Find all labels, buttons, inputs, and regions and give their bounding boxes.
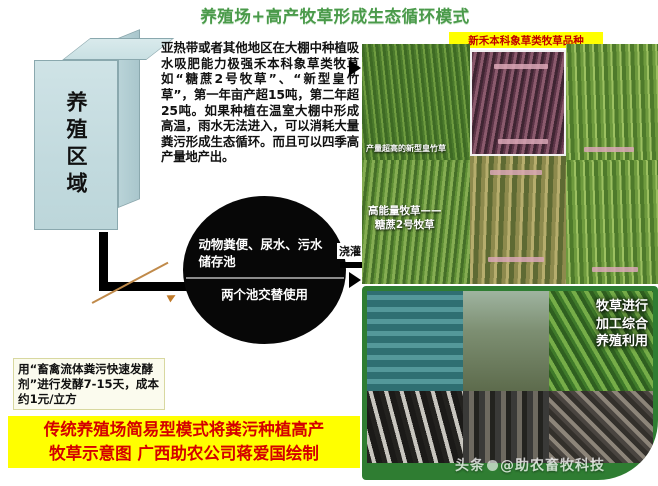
waste-storage-pool: 动物粪便、尿水、污水储存池 两个池交替使用 [183, 196, 346, 344]
photo-caption-mid-line-1: 高能量牧草—— [368, 204, 442, 218]
photo-caption-mid: 高能量牧草—— 糖蔗2号牧草 [368, 204, 442, 232]
photo-grass-field-left: 产量超高的新型皇竹草 [362, 44, 470, 160]
panel-caption-line-2: 加工综合 [596, 316, 648, 334]
breeding-area-box: 养殖区域 [28, 26, 146, 232]
watermark-prefix: 头条 [455, 458, 485, 474]
photo-purple-napier [470, 50, 566, 156]
photo-sugarcane-grass-left: 高能量牧草—— 糖蔗2号牧草 [362, 160, 470, 284]
plant-tag-icon [592, 267, 638, 272]
panel-caption-line-1: 牧草进行 [596, 298, 648, 316]
poster-canvas: 养殖场+高产牧草形成生态循环模式 养殖区域 亚热带或者其他地区在大棚中种植吸水吸… [0, 0, 658, 486]
box-top-face [62, 38, 174, 60]
photo-goat-herd [549, 391, 653, 463]
red-caption-line-2: 牧草示意图 广西助农公司蒋爱国绘制 [49, 442, 319, 466]
red-caption-line-1: 传统养殖场简易型模式将粪污种植高产 [44, 418, 325, 442]
photo-caption-mid-line-2: 糖蔗2号牧草 [368, 218, 442, 232]
plant-tag-icon [494, 64, 548, 69]
collage-arrow-head-upper-icon [349, 60, 361, 76]
description-paragraph: 亚热带或者其他地区在大棚中种植吸水吸肥能力极强禾本科象草类牧草如“糖蔗2号牧草”… [161, 40, 359, 165]
photo-barn-pens [463, 391, 549, 463]
plant-tag-icon [490, 170, 542, 175]
photo-cane-stalks [470, 156, 566, 284]
page-title: 养殖场+高产牧草形成生态循环模式 [175, 2, 495, 28]
photo-worker-feeding [463, 291, 549, 391]
note-pointer-head-icon [167, 292, 178, 303]
pool-top-label: 动物粪便、尿水、污水储存池 [199, 237, 331, 270]
plant-tag-icon [498, 139, 548, 144]
plant-tag-icon [488, 257, 544, 262]
collage-arrow-head-lower-icon [349, 272, 361, 288]
panel-caption: 牧草进行 加工综合 养殖利用 [596, 298, 648, 351]
fermentation-note: 用“畜禽流体粪污快速发酵剂”进行发酵7-15天，成本约1元/立方 [13, 358, 165, 410]
watermark: 头条@助农畜牧科技 [455, 455, 605, 475]
photo-silage-bales [367, 291, 463, 391]
photo-grass-field-lower-right [566, 160, 658, 284]
photo-caption-top: 产量超高的新型皇竹草 [366, 144, 446, 154]
pool-bottom-label: 两个池交替使用 [190, 285, 340, 303]
irrigation-label: 浇灌 [337, 243, 363, 259]
photo-grass-field-right [566, 44, 658, 160]
watermark-handle: @助农畜牧科技 [500, 458, 605, 474]
watermark-dot-icon [487, 460, 498, 471]
utilization-photo-panel: 牧草进行 加工综合 养殖利用 [362, 286, 658, 480]
pool-divider [186, 277, 344, 279]
photo-dairy-cows [367, 391, 463, 463]
breeding-area-label: 养殖区域 [34, 60, 118, 230]
grass-photo-collage: 产量超高的新型皇竹草 高能量牧草—— 糖蔗2号牧草 [362, 44, 658, 284]
plant-tag-icon [584, 147, 634, 152]
bottom-red-caption: 传统养殖场简易型模式将粪污种植高产 牧草示意图 广西助农公司蒋爱国绘制 [8, 416, 360, 468]
panel-caption-line-3: 养殖利用 [596, 333, 648, 351]
